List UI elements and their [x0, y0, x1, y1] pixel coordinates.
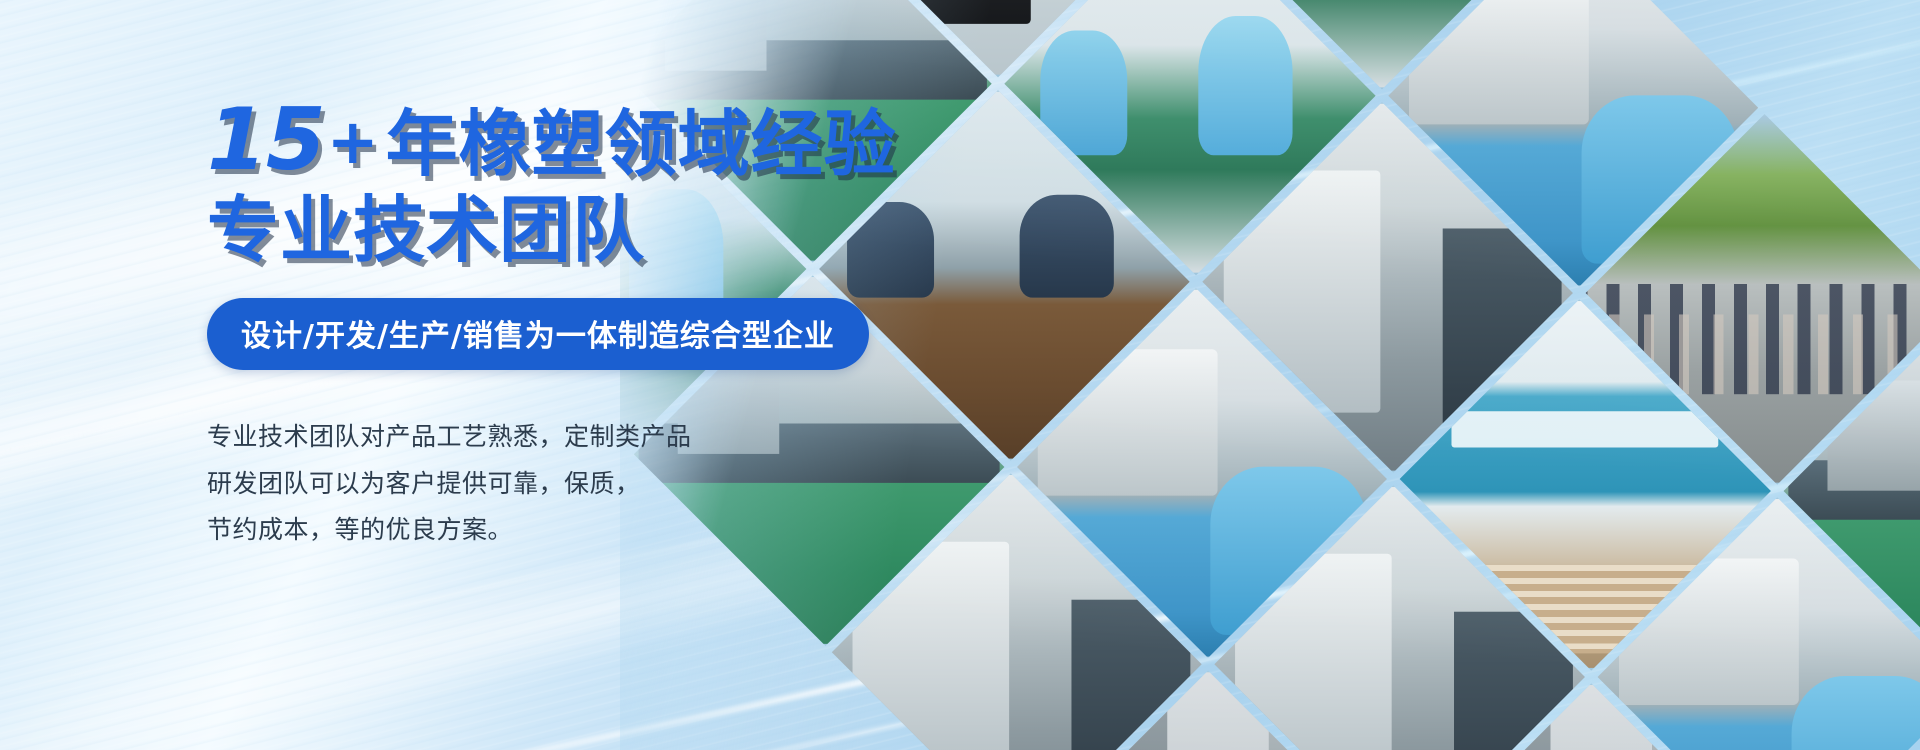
banner-content: 15+年橡塑领域经验 专业技术团队 设计/开发/生产/销售为一体制造综合型企业 …	[207, 96, 967, 554]
description-paragraph: 专业技术团队对产品工艺熟悉，定制类产品 研发团队可以为客户提供可靠，保质， 节约…	[207, 414, 967, 554]
promo-banner: 15+年橡塑领域经验 专业技术团队 设计/开发/生产/销售为一体制造综合型企业 …	[0, 0, 1920, 750]
headline-line-2: 专业技术团队	[207, 193, 967, 268]
description-line: 专业技术团队对产品工艺熟悉，定制类产品	[207, 414, 967, 461]
years-number: 15	[207, 90, 325, 190]
headline-line-1-text: 年橡塑领域经验	[386, 102, 897, 186]
plus-sign: +	[327, 105, 380, 178]
description-line: 研发团队可以为客户提供可靠，保质，	[207, 461, 967, 508]
description-line: 节约成本，等的优良方案。	[207, 507, 967, 554]
tagline-pill: 设计/开发/生产/销售为一体制造综合型企业	[207, 298, 869, 370]
headline-line-1: 15+年橡塑领域经验	[207, 96, 967, 185]
